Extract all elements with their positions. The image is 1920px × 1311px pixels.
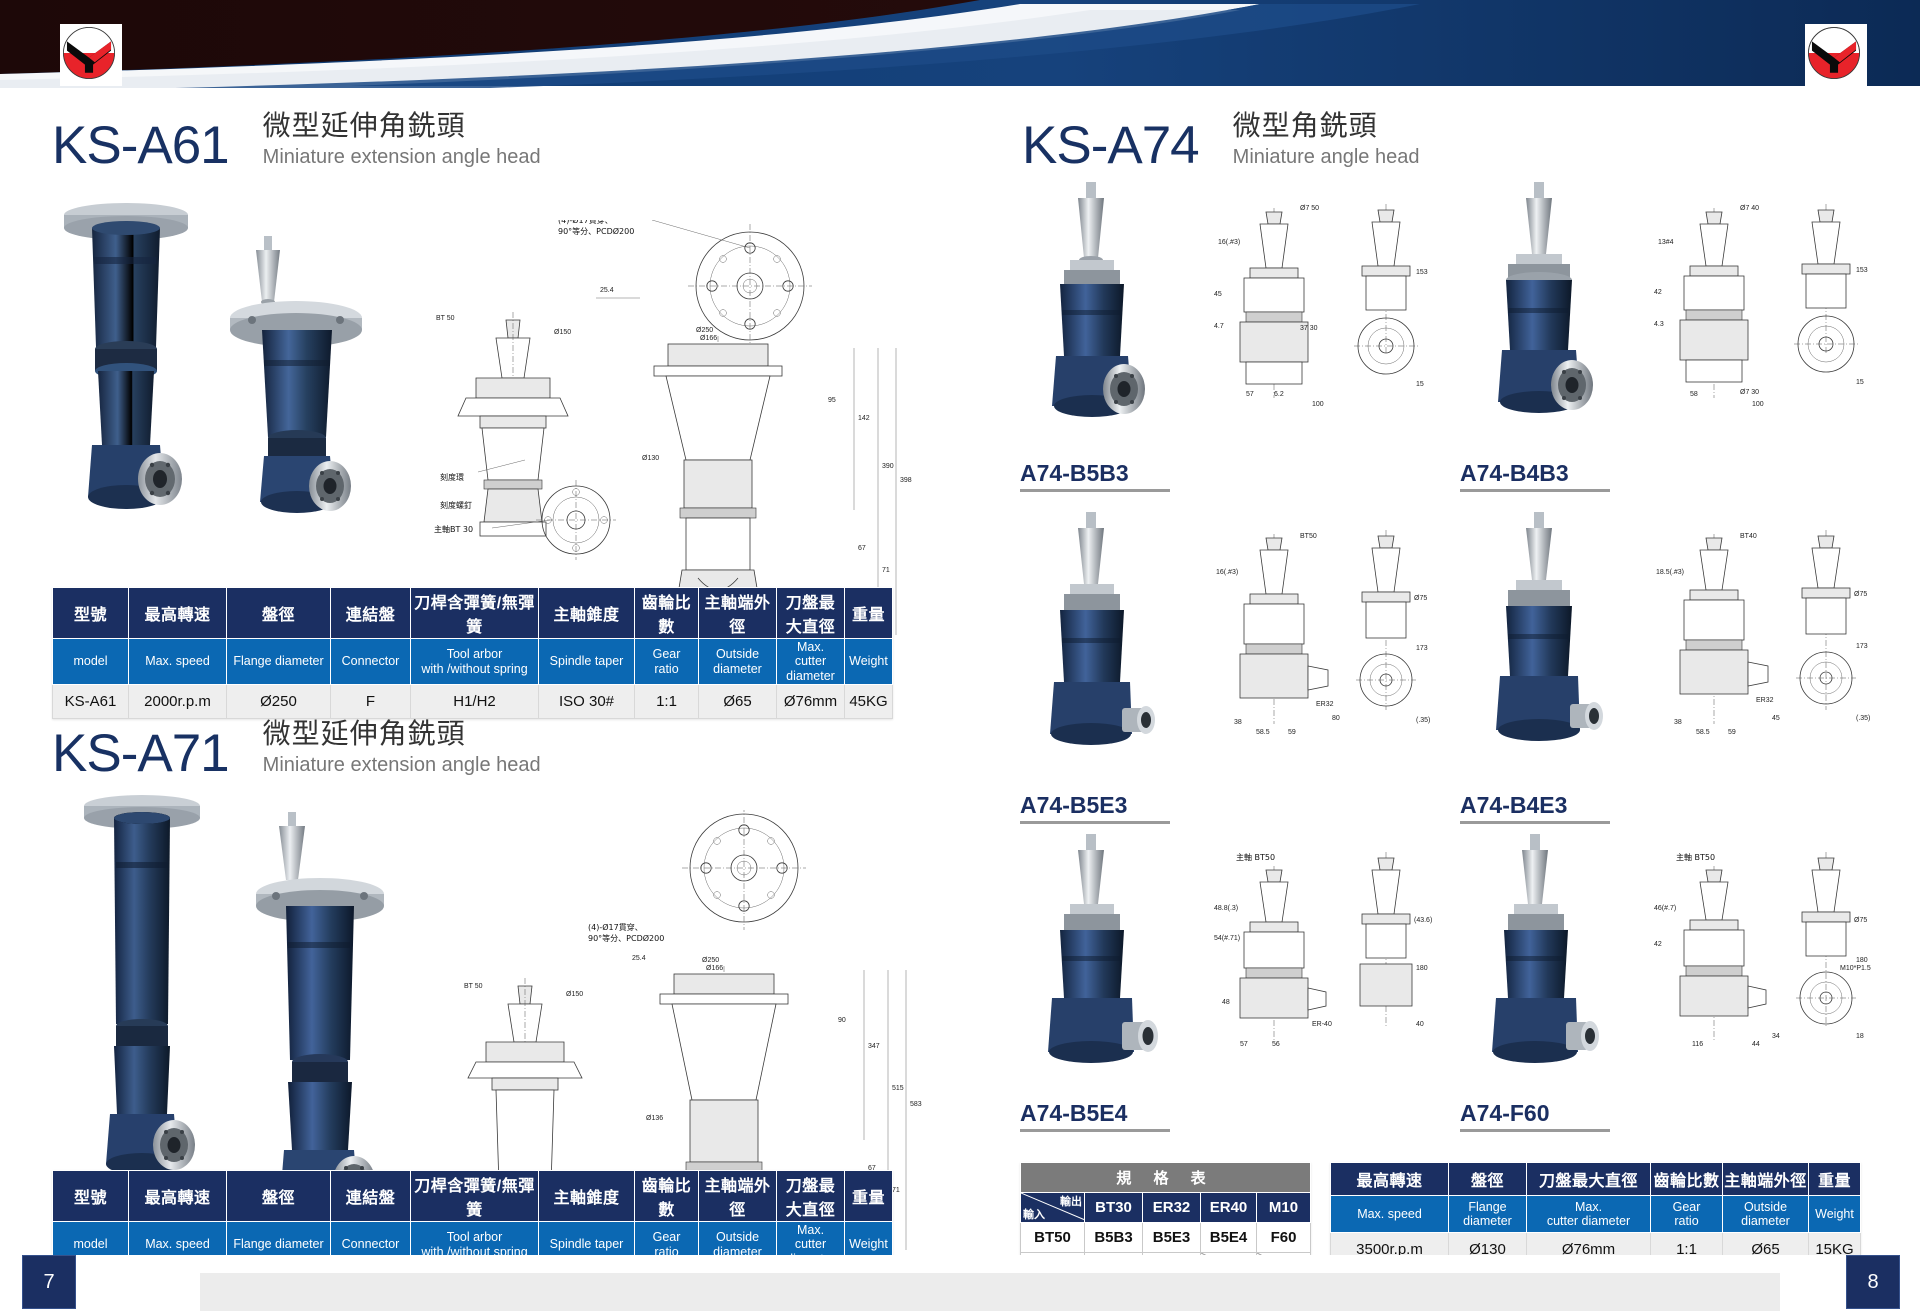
company-logo [60, 24, 122, 86]
th-en-spindle-taper: Spindle taper [539, 639, 635, 685]
dim-note: 主軸BT 30 [434, 524, 473, 534]
cell-outside-diameter: Ø65 [699, 685, 777, 719]
cell-weight: 45KG [845, 685, 893, 719]
dim-value: 390 [882, 463, 894, 470]
th-cn-max-speed: 最高轉速 [129, 1171, 227, 1222]
model-name: KS-A61 [52, 119, 229, 172]
dim-value: 347 [868, 1043, 880, 1050]
product-photo-a74-f60 [1460, 832, 1640, 1087]
dim-value: 54(#.71) [1214, 935, 1240, 942]
dim-value: Ø75 [1854, 591, 1867, 598]
matrix-col-er32: ER32 [1143, 1193, 1201, 1223]
dim-value: 25.4 [632, 955, 646, 962]
title-english: Miniature angle head [1233, 145, 1420, 169]
matrix-axis-input: 輸入 [1023, 1206, 1045, 1222]
dim-value: Ø166 [706, 965, 723, 972]
th-cn-gear-ratio: 齒輪比數 [635, 1171, 699, 1222]
dim-note: 90°等分、PCDØ200 [588, 933, 664, 943]
matrix-col-bt30: BT30 [1085, 1193, 1143, 1223]
product-photo-ks-a61-angle [212, 232, 412, 537]
caption-underline [1460, 489, 1610, 492]
dim-value: 90 [838, 1017, 846, 1024]
table-header-cn-row: 型號 最高轉速 盤徑 連結盤 刀桿含彈簧/無彈簧 主軸錐度 齒輪比數 主軸端外徑… [53, 588, 893, 639]
caption-underline [1020, 821, 1170, 824]
th-cn-max-cutter-diameter: 刀盤最大直徑 [777, 1171, 845, 1222]
cell-flange-diameter: Ø250 [227, 685, 331, 719]
title-chinese: 微型延伸角銑頭 [263, 717, 541, 750]
product-photo-ks-a61-front [48, 197, 238, 532]
th-en-flange-diameter: Flangediameter [1449, 1196, 1527, 1233]
dim-value: (.35) [1856, 715, 1870, 722]
dim-value: Ø166 [700, 335, 717, 342]
catalog-spread: KS-A61 微型延伸角銑頭 Miniature extension angle… [0, 0, 1920, 1311]
caption-underline [1460, 821, 1610, 824]
dim-value: 58.5 [1256, 729, 1270, 736]
dim-value: 173 [1856, 643, 1868, 650]
matrix-title: 規 格 表 [1021, 1163, 1311, 1193]
th-cn-max-speed: 最高轉速 [1331, 1163, 1449, 1196]
th-cn-max-cutter-diameter: 刀盤最大直徑 [777, 588, 845, 639]
th-cn-tool-arbor: 刀桿含彈簧/無彈簧 [411, 1171, 539, 1222]
dim-value: ER32 [1316, 701, 1334, 708]
th-en-weight: Weight [1809, 1196, 1861, 1233]
product-photo-a74-b5e3 [1020, 510, 1200, 775]
dim-value: 6.2 [1274, 391, 1284, 398]
dim-note: (4)-Ø17貫穿、 [558, 220, 613, 225]
th-cn-spindle-taper: 主軸錐度 [539, 588, 635, 639]
th-en-gear-ratio: Gearratio [1651, 1196, 1723, 1233]
th-en-max-cutter-diameter: Max.cutter diameter [777, 639, 845, 685]
variant-label: A74-B4B3 [1460, 460, 1610, 487]
th-en-max-cutter-diameter: Max.cutter diameter [1527, 1196, 1651, 1233]
product-title-ks-a71: KS-A71 微型延伸角銑頭 Miniature extension angle… [52, 717, 541, 780]
matrix-corner-cell: 輸入 輸出 [1021, 1193, 1085, 1223]
dim-value: (.35) [1416, 717, 1430, 724]
th-cn-connector: 連結盤 [331, 588, 411, 639]
spec-table-ks-a74: 最高轉速 盤徑 刀盤最大直徑 齒輪比數 主軸端外徑 重量 Max. speed … [1330, 1162, 1861, 1267]
dim-value: 95 [828, 397, 836, 404]
th-en-weight: Weight [845, 639, 893, 685]
dim-value: 44 [1752, 1041, 1760, 1048]
product-photo-a74-b5b3 [1020, 180, 1200, 445]
th-en-max-speed: Max. speed [1331, 1196, 1449, 1233]
dim-label: BT 50 [436, 315, 455, 322]
matrix-cell: B5E4 [1201, 1223, 1257, 1253]
dim-value: 57 [1246, 391, 1254, 398]
dim-value: 180 [1856, 957, 1868, 964]
th-cn-model: 型號 [53, 1171, 129, 1222]
dim-value: 48 [1222, 999, 1230, 1006]
caption-underline [1020, 1129, 1170, 1132]
dim-value: Ø7 30 [1740, 389, 1759, 396]
matrix-title-row: 規 格 表 [1021, 1163, 1311, 1193]
dim-value: 16(.#3) [1218, 239, 1240, 246]
product-photo-a74-b5e4 [1020, 832, 1200, 1087]
table-header-en-row: Max. speed Flangediameter Max.cutter dia… [1331, 1196, 1861, 1233]
product-photo-a74-b4e3 [1460, 510, 1640, 775]
dim-value: 38 [1234, 719, 1242, 726]
dim-value: 100 [1752, 401, 1764, 408]
th-cn-gear-ratio: 齒輪比數 [1651, 1163, 1723, 1196]
table-header-en-row: model Max. speed Flange diameter Connect… [53, 639, 893, 685]
dim-value: 398 [900, 477, 912, 484]
dim-value: 56 [1272, 1041, 1280, 1048]
dim-value: 153 [1856, 267, 1868, 274]
th-cn-weight: 重量 [1809, 1163, 1861, 1196]
technical-drawing-a74-b4e3: BT40 18.5(.#3) 38 58.5 59 ER32 [1650, 528, 1880, 758]
matrix-col-er40: ER40 [1201, 1193, 1257, 1223]
title-english: Miniature extension angle head [263, 145, 541, 169]
matrix-cell: F60 [1257, 1223, 1311, 1253]
matrix-row-bt50: BT50 B5B3 B5E3 B5E4 F60 [1021, 1223, 1311, 1253]
model-name: KS-A74 [1022, 119, 1199, 172]
page-number-right: 8 [1846, 1255, 1900, 1309]
company-logo [1805, 24, 1867, 86]
spec-table-ks-a61: 型號 最高轉速 盤徑 連結盤 刀桿含彈簧/無彈簧 主軸錐度 齒輪比數 主軸端外徑… [52, 587, 893, 719]
dim-value: M10*P1.5 [1840, 965, 1871, 972]
cell-spindle-taper: ISO 30# [539, 685, 635, 719]
dim-value: Ø250 [696, 327, 713, 334]
dim-value: 15 [1856, 379, 1864, 386]
dim-value: BT40 [1740, 533, 1757, 540]
th-en-flange-diameter: Flange diameter [227, 639, 331, 685]
th-en-connector: Connector [331, 639, 411, 685]
dim-value: 80 [1332, 715, 1340, 722]
dim-value: 153 [1416, 269, 1428, 276]
dim-value: 40 [1416, 1021, 1424, 1028]
dim-value: 67 [858, 545, 866, 552]
variant-label: A74-B5E4 [1020, 1100, 1170, 1127]
dim-value: 142 [858, 415, 870, 422]
th-en-gear-ratio: Gearratio [635, 639, 699, 685]
matrix-row-label: BT50 [1021, 1223, 1085, 1253]
th-en-outside-diameter: Outsidediameter [699, 639, 777, 685]
technical-drawing-a74-b5e4: 主軸 BT50 48.8(.3) 54(#.71) 57 56 ER-40 48 [1210, 848, 1440, 1068]
th-en-tool-arbor: Tool arborwith /without spring [411, 639, 539, 685]
dim-value: 37 30 [1300, 325, 1318, 332]
variant-caption-a74-b5e3: A74-B5E3 [1020, 792, 1170, 824]
th-en-outside-diameter: Outsidediameter [1723, 1196, 1809, 1233]
dim-value: Ø75 [1414, 595, 1427, 602]
variant-caption-a74-b5b3: A74-B5B3 [1020, 460, 1170, 492]
th-cn-spindle-taper: 主軸錐度 [539, 1171, 635, 1222]
dim-value: 59 [1288, 729, 1296, 736]
th-cn-flange-diameter: 盤徑 [1449, 1163, 1527, 1196]
page-banner [0, 0, 1920, 92]
dim-value: Ø150 [566, 991, 583, 998]
dim-value: 48.8(.3) [1214, 905, 1238, 912]
dim-value: Ø7 50 [1300, 205, 1319, 212]
variant-label: A74-B4E3 [1460, 792, 1610, 819]
dim-value: 34 [1772, 1033, 1780, 1040]
th-cn-outside-diameter: 主軸端外徑 [1723, 1163, 1809, 1196]
dim-value: 38 [1674, 719, 1682, 726]
product-title-ks-a74: KS-A74 微型角銑頭 Miniature angle head [1022, 109, 1419, 172]
dim-value: 42 [1654, 941, 1662, 948]
th-cn-gear-ratio: 齒輪比數 [635, 588, 699, 639]
th-cn-max-speed: 最高轉速 [129, 588, 227, 639]
dim-value: ER32 [1756, 697, 1774, 704]
dim-value: 16(.#3) [1216, 569, 1238, 576]
dim-value: 583 [910, 1101, 922, 1108]
dim-value: 58 [1690, 391, 1698, 398]
caption-underline [1460, 1129, 1610, 1132]
table-header-cn-row: 型號 最高轉速 盤徑 連結盤 刀桿含彈簧/無彈簧 主軸錐度 齒輪比數 主軸端外徑… [53, 1171, 893, 1222]
title-chinese: 微型角銑頭 [1233, 109, 1420, 142]
dim-value: 15 [1416, 381, 1424, 388]
dim-value: 59 [1728, 729, 1736, 736]
matrix-cell: B5B3 [1085, 1223, 1143, 1253]
dim-value: 45 [1772, 715, 1780, 722]
dim-note: 刻度螺釘 [440, 500, 472, 510]
dim-value: 4.3 [1654, 321, 1664, 328]
dim-value: 58.5 [1696, 729, 1710, 736]
th-cn-model: 型號 [53, 588, 129, 639]
dim-value: 13#4 [1658, 239, 1674, 246]
table-header-cn-row: 最高轉速 盤徑 刀盤最大直徑 齒輪比數 主軸端外徑 重量 [1331, 1163, 1861, 1196]
title-english: Miniature extension angle head [263, 753, 541, 777]
cell-model: KS-A61 [53, 685, 129, 719]
dim-value: 18.5(.#3) [1656, 569, 1684, 576]
page-number-left: 7 [22, 1255, 76, 1309]
dim-value: 4.7 [1214, 323, 1224, 330]
th-cn-weight: 重量 [845, 588, 893, 639]
th-cn-tool-arbor: 刀桿含彈簧/無彈簧 [411, 588, 539, 639]
matrix-axis-output: 輸出 [1060, 1193, 1082, 1209]
variant-label: A74-F60 [1460, 1100, 1610, 1127]
cell-max-cutter-diameter: Ø76mm [777, 685, 845, 719]
th-en-model: model [53, 639, 129, 685]
dim-value: Ø150 [554, 329, 571, 336]
right-page: KS-A74 微型角銑頭 Miniature angle head [960, 92, 1920, 1255]
table-row: KS-A61 2000r.p.m Ø250 F H1/H2 ISO 30# 1:… [53, 685, 893, 719]
dim-value: 173 [1416, 645, 1428, 652]
left-page: KS-A61 微型延伸角銑頭 Miniature extension angle… [0, 92, 960, 1255]
variant-caption-a74-b5e4: A74-B5E4 [1020, 1100, 1170, 1132]
dim-value: 18 [1856, 1033, 1864, 1040]
dim-value: Ø7 40 [1740, 205, 1759, 212]
variant-caption-a74-f60: A74-F60 [1460, 1100, 1610, 1132]
cell-max-speed: 2000r.p.m [129, 685, 227, 719]
dim-note: 90°等分、PCDØ200 [558, 226, 634, 236]
technical-drawing-a74-b5e3: BT50 16(.#3) 38 58.5 59 ER32 [1210, 528, 1440, 758]
cell-tool-arbor: H1/H2 [411, 685, 539, 719]
dim-note: 主軸 BT50 [1236, 852, 1275, 862]
dim-value: Ø250 [702, 957, 719, 964]
product-photo-ks-a71-front [70, 792, 250, 1217]
caption-underline [1020, 489, 1170, 492]
th-en-max-speed: Max. speed [129, 639, 227, 685]
cell-connector: F [331, 685, 411, 719]
product-title-ks-a61: KS-A61 微型延伸角銑頭 Miniature extension angle… [52, 109, 541, 172]
technical-drawing-a74-b5b3: Ø7 50 16(.#3) 45 4.7 37 30 57 6.2 100 15… [1210, 202, 1440, 432]
dim-value: 71 [892, 1187, 900, 1194]
variant-label: A74-B5E3 [1020, 792, 1170, 819]
th-cn-flange-diameter: 盤徑 [227, 1171, 331, 1222]
dim-note: 刻度環 [440, 472, 464, 482]
technical-drawing-a74-b4b3: Ø7 40 13#4 42 4.3 Ø7 30 58 100 153 [1650, 202, 1880, 432]
model-name: KS-A71 [52, 727, 229, 780]
variant-caption-a74-b4e3: A74-B4E3 [1460, 792, 1610, 824]
th-cn-weight: 重量 [845, 1171, 893, 1222]
matrix-header-row: 輸入 輸出 BT30 ER32 ER40 M10 [1021, 1193, 1311, 1223]
dim-value: 100 [1312, 401, 1324, 408]
dim-value: 515 [892, 1085, 904, 1092]
dim-value: 116 [1692, 1041, 1703, 1048]
th-cn-outside-diameter: 主軸端外徑 [699, 1171, 777, 1222]
technical-drawing-a74-f60: 主軸 BT50 46(#.7) 42 116 44 [1650, 848, 1880, 1068]
variant-label: A74-B5B3 [1020, 460, 1170, 487]
dim-note: 主軸 BT50 [1676, 852, 1715, 862]
cell-gear-ratio: 1:1 [635, 685, 699, 719]
dim-value: 57 [1240, 1041, 1248, 1048]
th-cn-flange-diameter: 盤徑 [227, 588, 331, 639]
dim-value: 71 [882, 567, 890, 574]
dim-label: BT 50 [464, 983, 483, 990]
th-cn-outside-diameter: 主軸端外徑 [699, 588, 777, 639]
dim-value: 46(#.7) [1654, 905, 1676, 912]
matrix-cell: B5E3 [1143, 1223, 1201, 1253]
footer-band [200, 1273, 1780, 1311]
matrix-col-m10: M10 [1257, 1193, 1311, 1223]
variant-caption-a74-b4b3: A74-B4B3 [1460, 460, 1610, 492]
th-cn-connector: 連結盤 [331, 1171, 411, 1222]
th-cn-max-cutter-diameter: 刀盤最大直徑 [1527, 1163, 1651, 1196]
product-photo-a74-b4b3 [1460, 180, 1640, 445]
title-chinese: 微型延伸角銑頭 [263, 109, 541, 142]
dim-value: 25.4 [600, 287, 614, 294]
dim-value: 45 [1214, 291, 1222, 298]
dim-value: BT50 [1300, 533, 1317, 540]
dim-value: 180 [1416, 965, 1428, 972]
dim-note: (4)-Ø17貫穿、 [588, 922, 643, 932]
dim-value: Ø75 [1854, 917, 1867, 924]
dim-value: 42 [1654, 289, 1662, 296]
dim-value: (43.6) [1414, 917, 1432, 924]
dim-value: ER-40 [1312, 1021, 1332, 1028]
dim-value: Ø130 [642, 455, 659, 462]
dim-value: Ø136 [646, 1115, 663, 1122]
